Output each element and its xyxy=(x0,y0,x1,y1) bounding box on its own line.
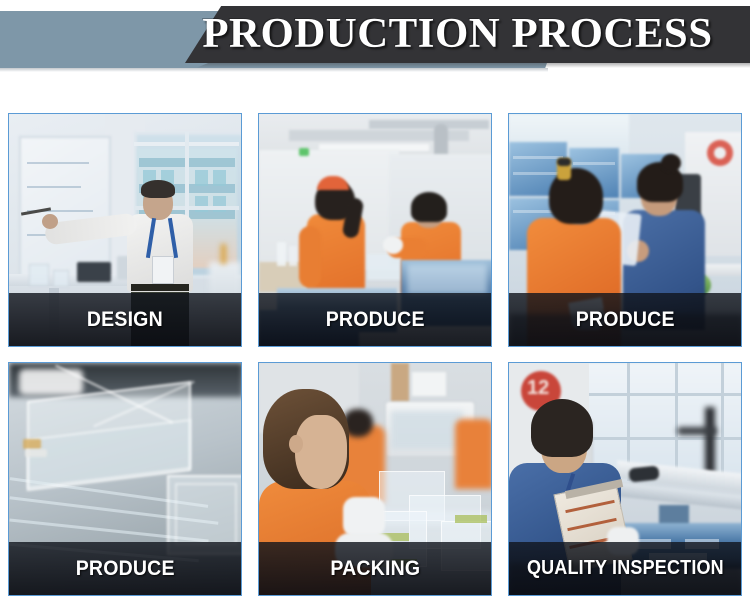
header-dark-ribbon-shadow xyxy=(196,63,750,68)
caption-bar-design: DESIGN xyxy=(9,293,241,346)
wall-number-sign-text: 12 xyxy=(527,377,557,403)
header-banner: PRODUCTION PROCESS xyxy=(0,0,750,96)
caption-label-produce-3: PRODUCE xyxy=(76,557,175,581)
header-blue-ribbon-shadow xyxy=(0,68,548,72)
caption-bar-produce-2: PRODUCE xyxy=(509,293,741,346)
process-step-card-produce-2[interactable]: PRODUCE xyxy=(508,113,742,347)
page-title: PRODUCTION PROCESS xyxy=(180,6,736,63)
white-glove xyxy=(343,497,385,537)
caption-label-quality-inspection: QUALITY INSPECTION xyxy=(527,557,724,580)
production-process-gallery: DESIGN xyxy=(8,113,742,596)
caption-bar-produce-3: PRODUCE xyxy=(9,542,241,595)
process-step-card-quality-inspection[interactable]: 12 QUALITY INSPECTION xyxy=(508,362,742,596)
process-step-card-packing[interactable]: PACKING xyxy=(258,362,492,596)
process-step-card-design[interactable]: DESIGN xyxy=(8,113,242,347)
caption-bar-produce-1: PRODUCE xyxy=(259,293,491,346)
caption-bar-quality-inspection: QUALITY INSPECTION xyxy=(509,542,741,595)
caption-bar-packing: PACKING xyxy=(259,542,491,595)
caption-label-design: DESIGN xyxy=(87,308,163,332)
caption-label-produce-2: PRODUCE xyxy=(576,308,675,332)
process-step-card-produce-3[interactable]: PRODUCE xyxy=(8,362,242,596)
caption-label-produce-1: PRODUCE xyxy=(326,308,425,332)
caption-label-packing: PACKING xyxy=(330,557,420,581)
process-step-card-produce-1[interactable]: PRODUCE xyxy=(258,113,492,347)
